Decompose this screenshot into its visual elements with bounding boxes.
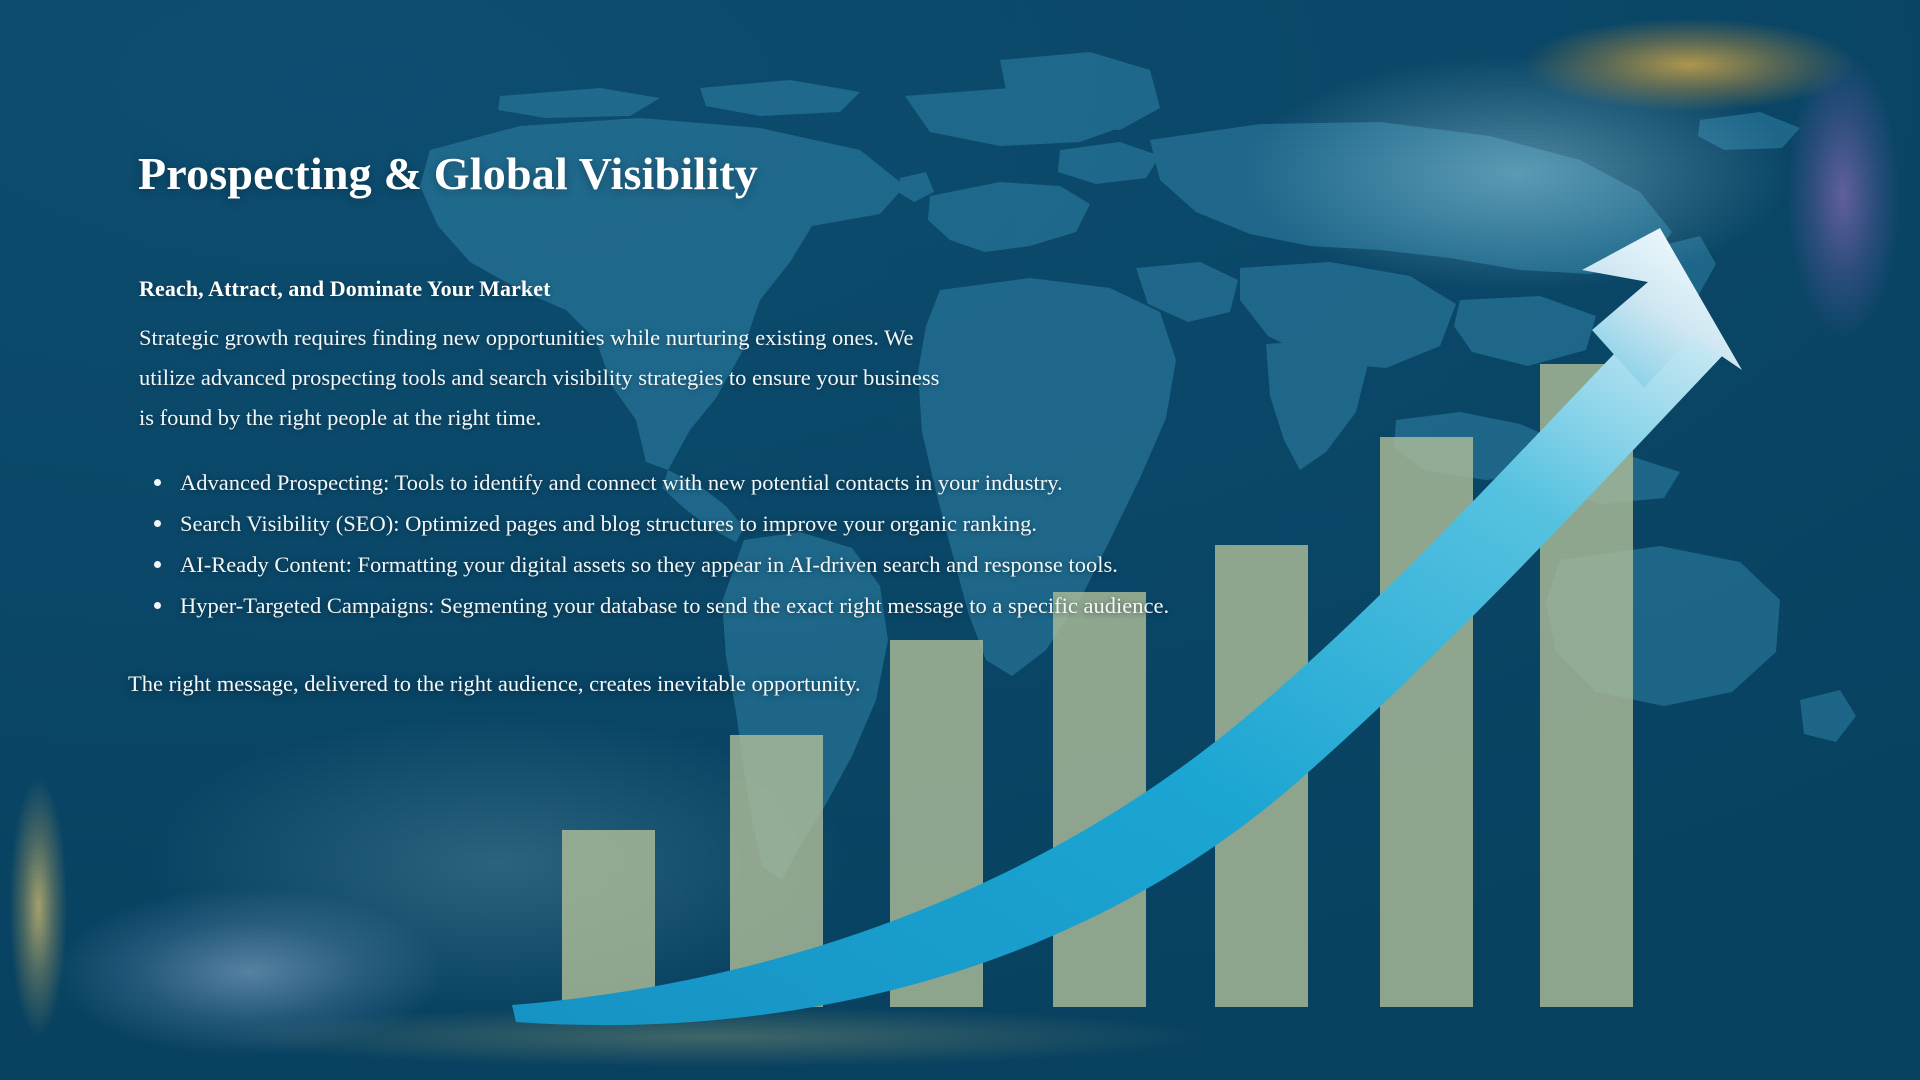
bullet-dot-icon xyxy=(154,479,161,486)
list-item: Advanced Prospecting: Tools to identify … xyxy=(180,462,1600,503)
intro-paragraph: Strategic growth requires finding new op… xyxy=(139,318,1269,438)
list-item-label: Advanced Prospecting: Tools to identify … xyxy=(180,470,1063,495)
list-item: AI-Ready Content: Formatting your digita… xyxy=(180,544,1600,585)
feature-bullet-list: Advanced Prospecting: Tools to identify … xyxy=(148,462,1600,626)
list-item: Search Visibility (SEO): Optimized pages… xyxy=(180,503,1600,544)
bullet-dot-icon xyxy=(154,561,161,568)
page-title: Prospecting & Global Visibility xyxy=(138,147,758,200)
list-item-label: Hyper-Targeted Campaigns: Segmenting you… xyxy=(180,593,1169,618)
bullet-dot-icon xyxy=(154,520,161,527)
bullet-dot-icon xyxy=(154,602,161,609)
slide-content: Prospecting & Global Visibility Reach, A… xyxy=(0,0,1920,1080)
closing-statement: The right message, delivered to the righ… xyxy=(128,665,861,703)
list-item: Hyper-Targeted Campaigns: Segmenting you… xyxy=(180,585,1600,626)
intro-line: utilize advanced prospecting tools and s… xyxy=(139,358,1269,398)
intro-line: Strategic growth requires finding new op… xyxy=(139,318,1269,358)
list-item-label: AI-Ready Content: Formatting your digita… xyxy=(180,552,1118,577)
list-item-label: Search Visibility (SEO): Optimized pages… xyxy=(180,511,1037,536)
intro-line: is found by the right people at the righ… xyxy=(139,398,1269,438)
section-subtitle: Reach, Attract, and Dominate Your Market xyxy=(139,276,551,302)
slide-canvas: Prospecting & Global Visibility Reach, A… xyxy=(0,0,1920,1080)
